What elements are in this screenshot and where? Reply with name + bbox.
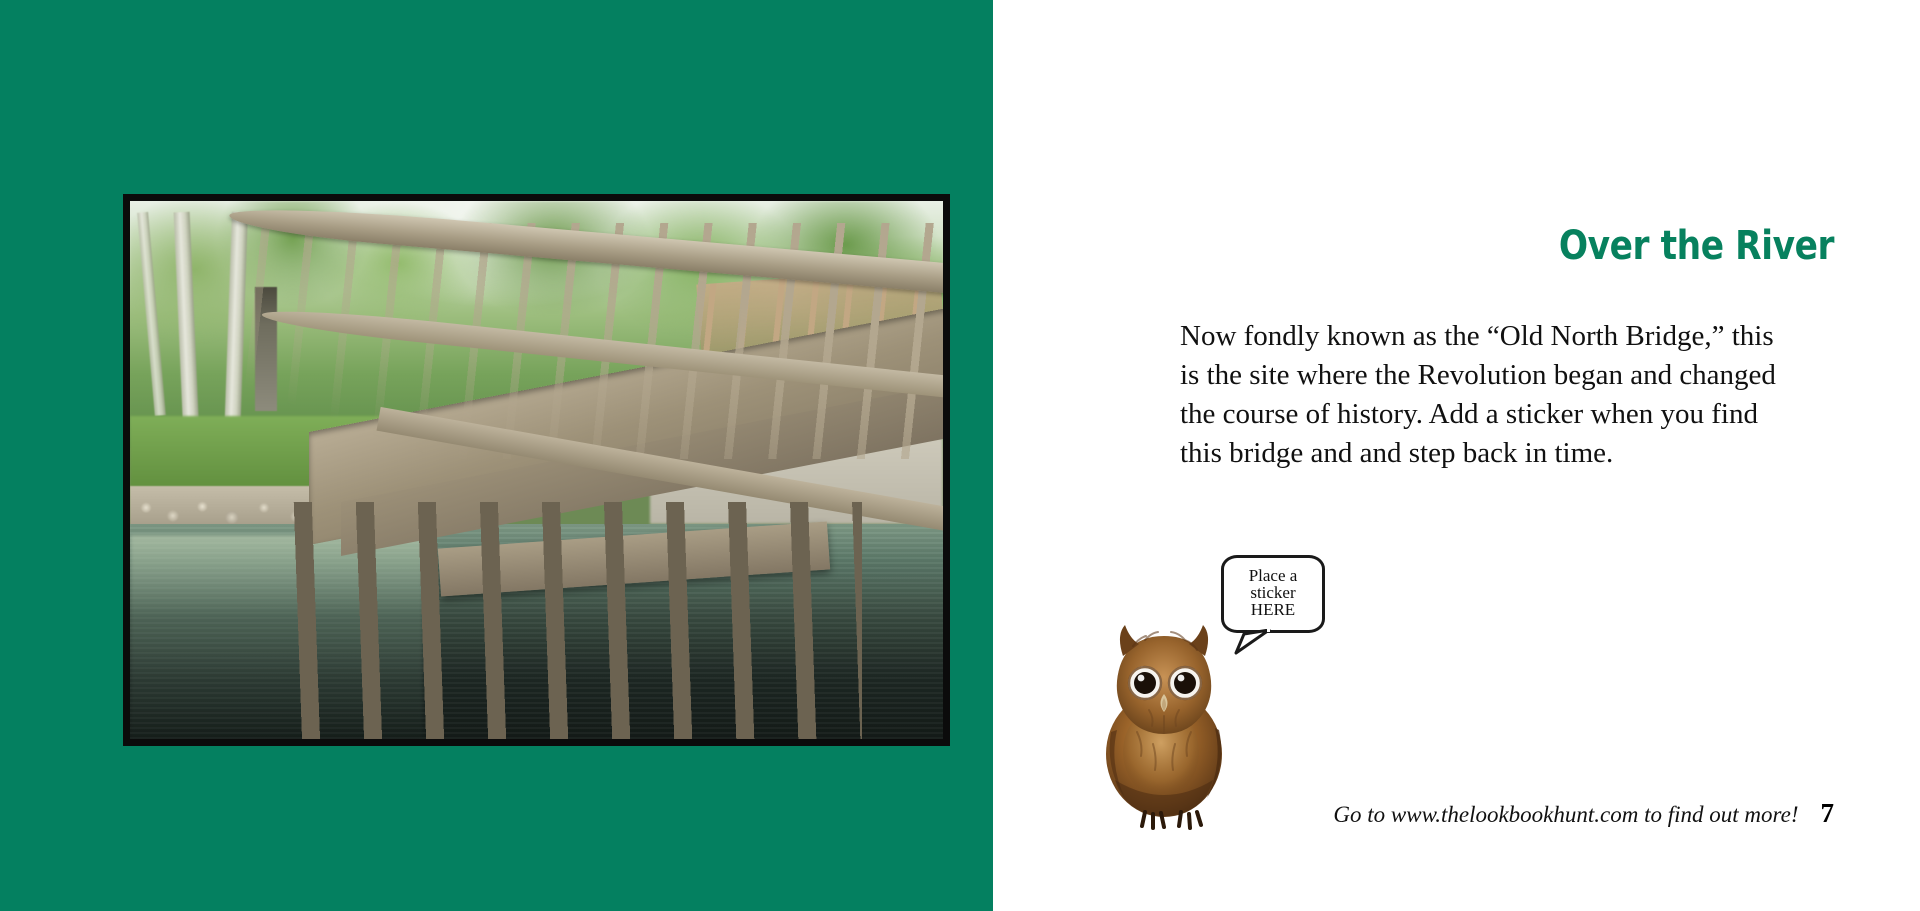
left-page-green-panel [0, 0, 993, 911]
footer-website-note: Go to www.thelookbookhunt.com to find ou… [1333, 802, 1798, 828]
speech-bubble-text: Place a sticker HERE [1224, 567, 1322, 618]
page-number: 7 [1821, 798, 1835, 829]
speech-bubble: Place a sticker HERE [1221, 555, 1325, 633]
photo-frame [123, 194, 950, 746]
page-footer: Go to www.thelookbookhunt.com to find ou… [1333, 798, 1834, 829]
book-spread: Over the River Now fondly known as the “… [0, 0, 1920, 911]
photo-bridge-pilings [276, 502, 861, 739]
sticker-placement-area[interactable]: Place a sticker HERE [1093, 555, 1373, 830]
page-title: Over the River [1111, 223, 1834, 269]
old-north-bridge-photo [130, 201, 943, 739]
body-paragraph: Now fondly known as the “Old North Bridg… [1180, 317, 1780, 473]
owl-mascot-icon [1093, 612, 1235, 830]
right-page-content: Over the River Now fondly known as the “… [993, 0, 1920, 911]
speech-bubble-tail-icon [1231, 629, 1271, 657]
